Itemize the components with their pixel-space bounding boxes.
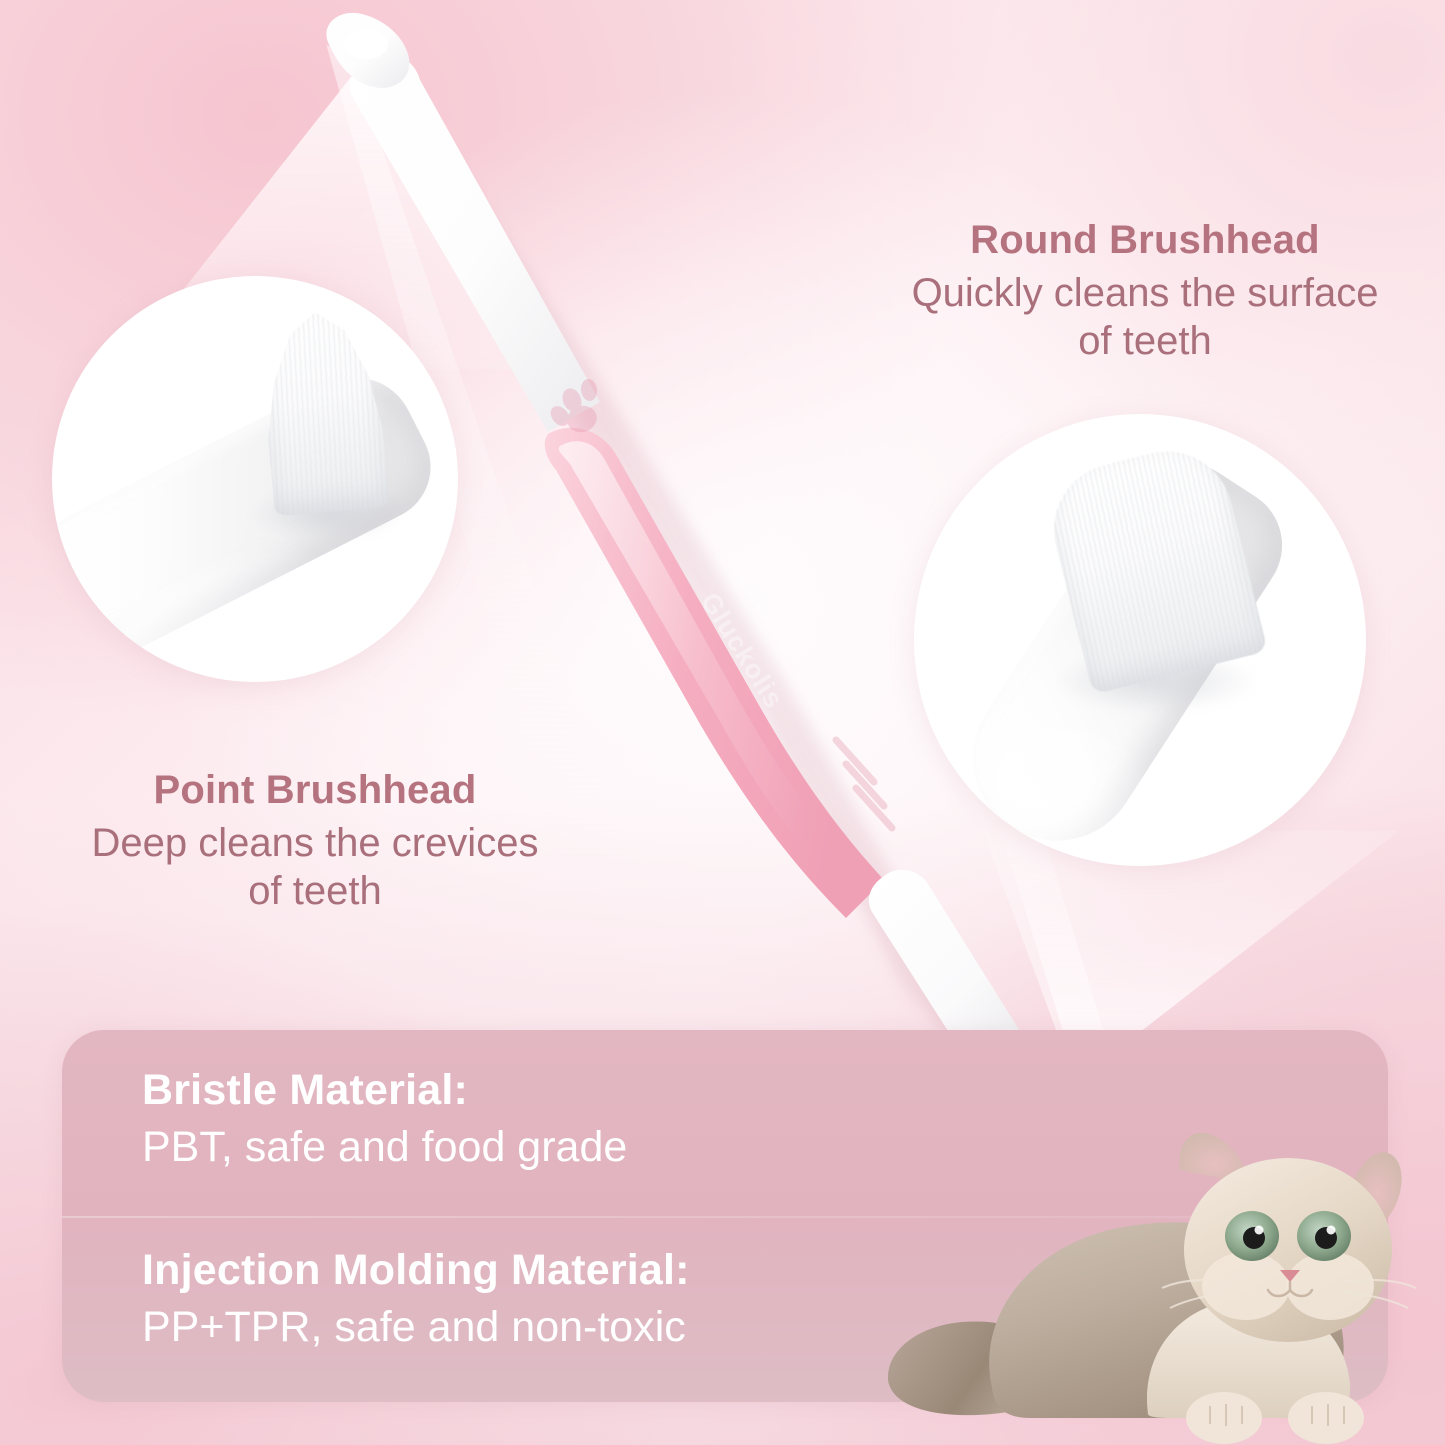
callout-point-brushhead: Point Brushhead Deep cleans the crevices… [22,768,608,915]
spec-injection-value: PP+TPR, safe and non-toxic [142,1305,690,1350]
cat-eye-glint-right [1327,1226,1336,1235]
closeup-circle-round-brushhead [914,414,1366,866]
callout-point-title: Point Brushhead [22,768,608,813]
spec-bristle-value: PBT, safe and food grade [142,1125,627,1170]
cat-eye-glint-left [1255,1226,1264,1235]
callout-round-body: Quickly cleans the surface of teeth [845,269,1445,365]
cat-head [1184,1158,1392,1342]
cat-paw-left [1186,1392,1262,1444]
spec-bristle-material: Bristle Material: PBT, safe and food gra… [142,1068,627,1170]
callout-round-title: Round Brushhead [845,218,1445,263]
callout-point-body: Deep cleans the crevices of teeth [22,819,608,915]
callout-round-brushhead: Round Brushhead Quickly cleans the surfa… [845,218,1445,365]
spec-injection-material: Injection Molding Material: PP+TPR, safe… [142,1248,690,1350]
pointed-bristle-tuft-icon [258,307,390,516]
british-shorthair-cat [880,1118,1445,1445]
spec-bristle-label: Bristle Material: [142,1068,627,1113]
product-infographic-canvas: Gluckolis Round Brushhead Quickly cleans… [0,0,1445,1445]
closeup-circle-point-brushhead [52,276,458,682]
cat-paw-right [1288,1392,1364,1444]
cat-cheek-right [1286,1252,1374,1320]
cat-cheek-left [1202,1252,1290,1320]
spec-injection-label: Injection Molding Material: [142,1248,690,1293]
